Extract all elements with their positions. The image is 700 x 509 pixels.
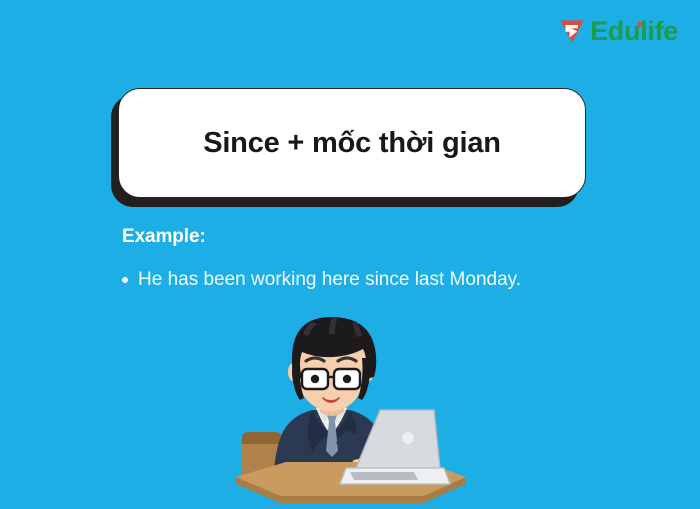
example-label: Example:: [122, 226, 206, 248]
edulife-triangle-logo-icon: [558, 17, 586, 45]
bullet-dot-icon: [122, 277, 128, 283]
logo-wordmark: Edulife: [590, 18, 678, 45]
logo-wordmark-text: Edulife: [590, 16, 678, 46]
slide-canvas: Edulife Since + mốc thời gian Example: H…: [0, 0, 700, 509]
businessman-working-on-laptop-illustration: [228, 314, 474, 509]
list-item: He has been working here since last Mond…: [122, 268, 642, 293]
logo-accent-dot-icon: [637, 22, 642, 27]
title-text: Since + mốc thời gian: [203, 127, 501, 160]
edulife-logo[interactable]: Edulife: [558, 17, 678, 45]
title-card: Since + mốc thời gian: [118, 88, 586, 198]
list-item-label: He has been working here since last Mond…: [138, 268, 521, 293]
title-card-container: Since + mốc thời gian: [118, 88, 586, 204]
example-list: He has been working here since last Mond…: [122, 268, 642, 293]
